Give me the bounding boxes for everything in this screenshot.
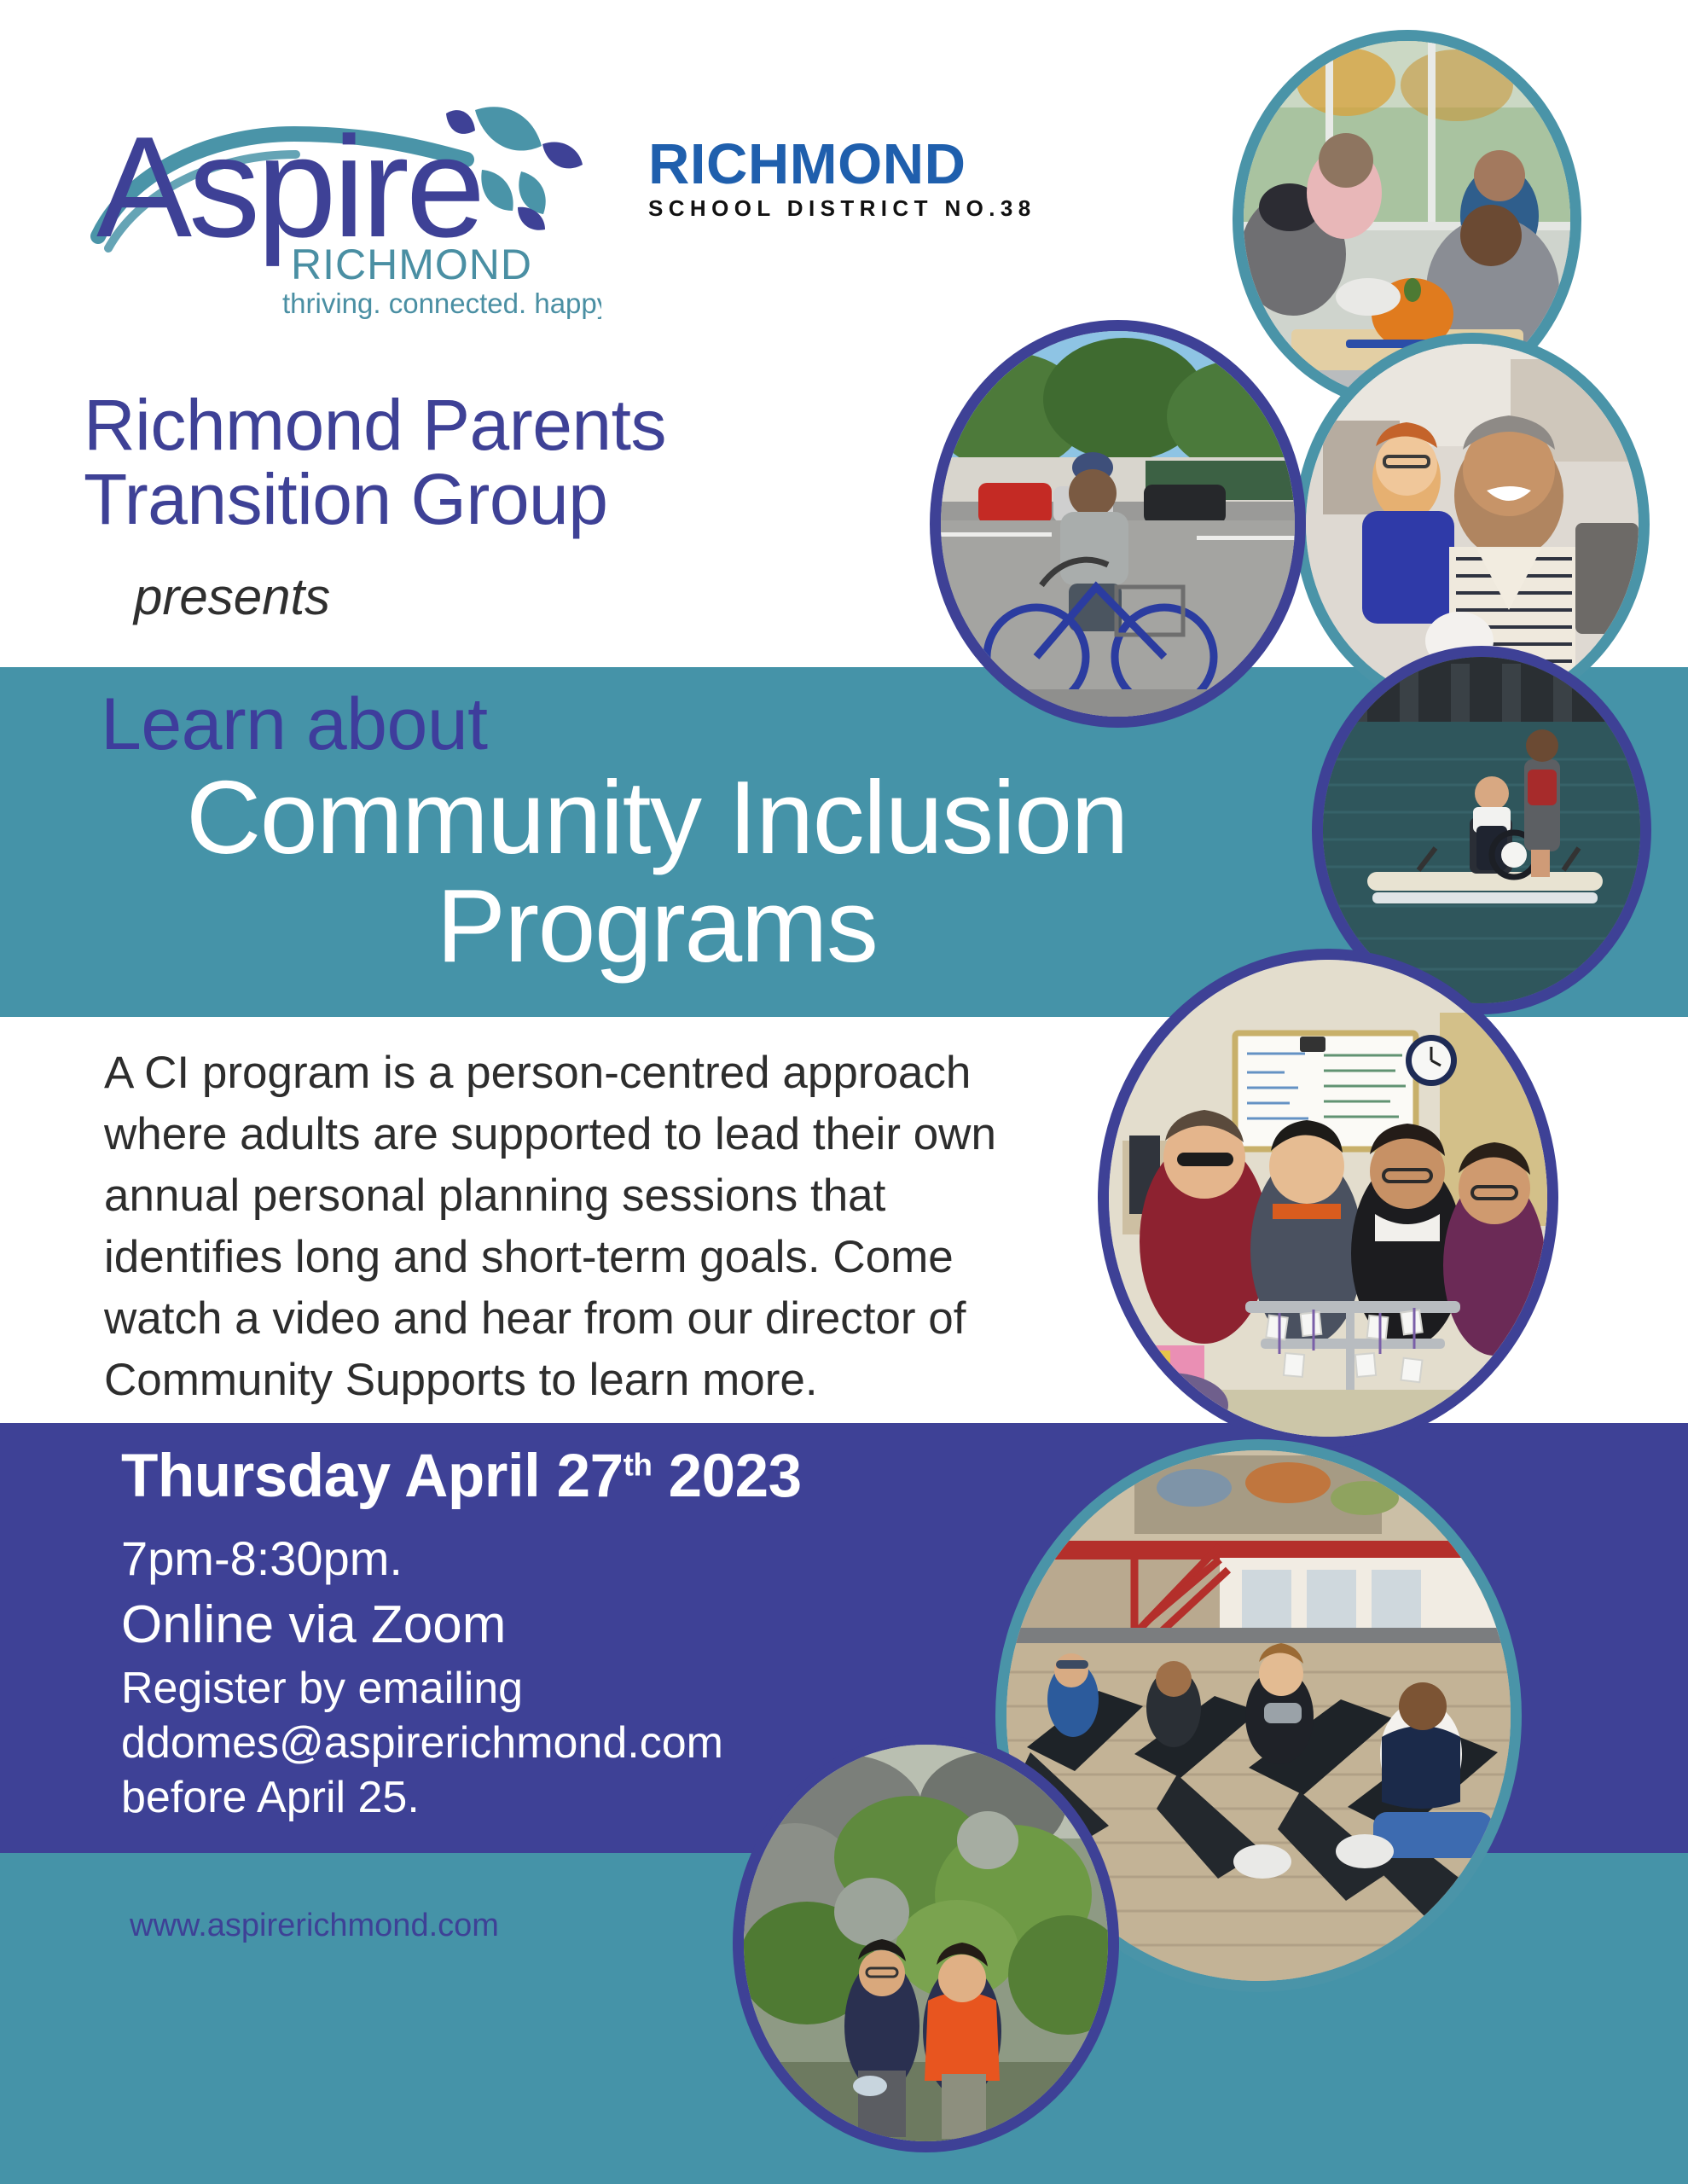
org-title-line-2: Transition Group xyxy=(84,462,937,537)
banner-title: Community Inclusion Programs xyxy=(0,764,1314,980)
photo-adaptive-tricycle xyxy=(941,331,1295,717)
richmond-school-district-logo: RICHMOND SCHOOL DISTRICT NO.38 xyxy=(648,136,1015,239)
program-description: A CI program is a person-centred approac… xyxy=(104,1043,1076,1411)
website-link[interactable]: www.aspirerichmond.com xyxy=(130,1908,499,1944)
register-email[interactable]: ddomes@aspirerichmond.com xyxy=(121,1716,723,1771)
district-wordmark: RICHMOND xyxy=(648,136,1015,193)
event-location: Online via Zoom xyxy=(121,1593,723,1658)
poster-canvas: Aspire RICHMOND thriving. connected. hap… xyxy=(0,0,1688,2184)
register-instruction: Register by emailing xyxy=(121,1662,723,1716)
photo-garden-pair xyxy=(744,1745,1108,2141)
presents-label: presents xyxy=(134,567,330,626)
org-title-line-1: Richmond Parents xyxy=(84,388,937,462)
photo-kitchen-smiling xyxy=(1306,344,1639,705)
banner-title-line-1: Community Inclusion xyxy=(0,764,1314,872)
aspire-richmond-logo: Aspire RICHMOND thriving. connected. hap… xyxy=(81,81,601,320)
photo-jewelry-display xyxy=(1109,960,1547,1437)
svg-text:RICHMOND: RICHMOND xyxy=(291,241,532,288)
event-date-text: Thursday April 27 xyxy=(121,1443,624,1510)
banner-title-line-2: Programs xyxy=(0,872,1314,980)
photo-adaptive-paddleboard xyxy=(1323,657,1640,1003)
district-subtitle: SCHOOL DISTRICT NO.38 xyxy=(648,195,1015,222)
event-time: 7pm-8:30pm. xyxy=(121,1531,723,1586)
svg-text:thriving. connected. happy.: thriving. connected. happy. xyxy=(282,288,601,319)
event-details: 7pm-8:30pm. Online via Zoom Register by … xyxy=(121,1531,723,1826)
register-deadline: before April 25. xyxy=(121,1771,723,1826)
event-date: Thursday April 27th 2023 xyxy=(121,1442,802,1511)
banner-kicker: Learn about xyxy=(101,682,488,767)
page-title: Richmond Parents Transition Group xyxy=(84,388,937,536)
event-date-year: 2023 xyxy=(669,1443,802,1510)
event-date-ordinal: th xyxy=(624,1447,653,1482)
photo-pumpkin-carving xyxy=(1244,41,1570,399)
